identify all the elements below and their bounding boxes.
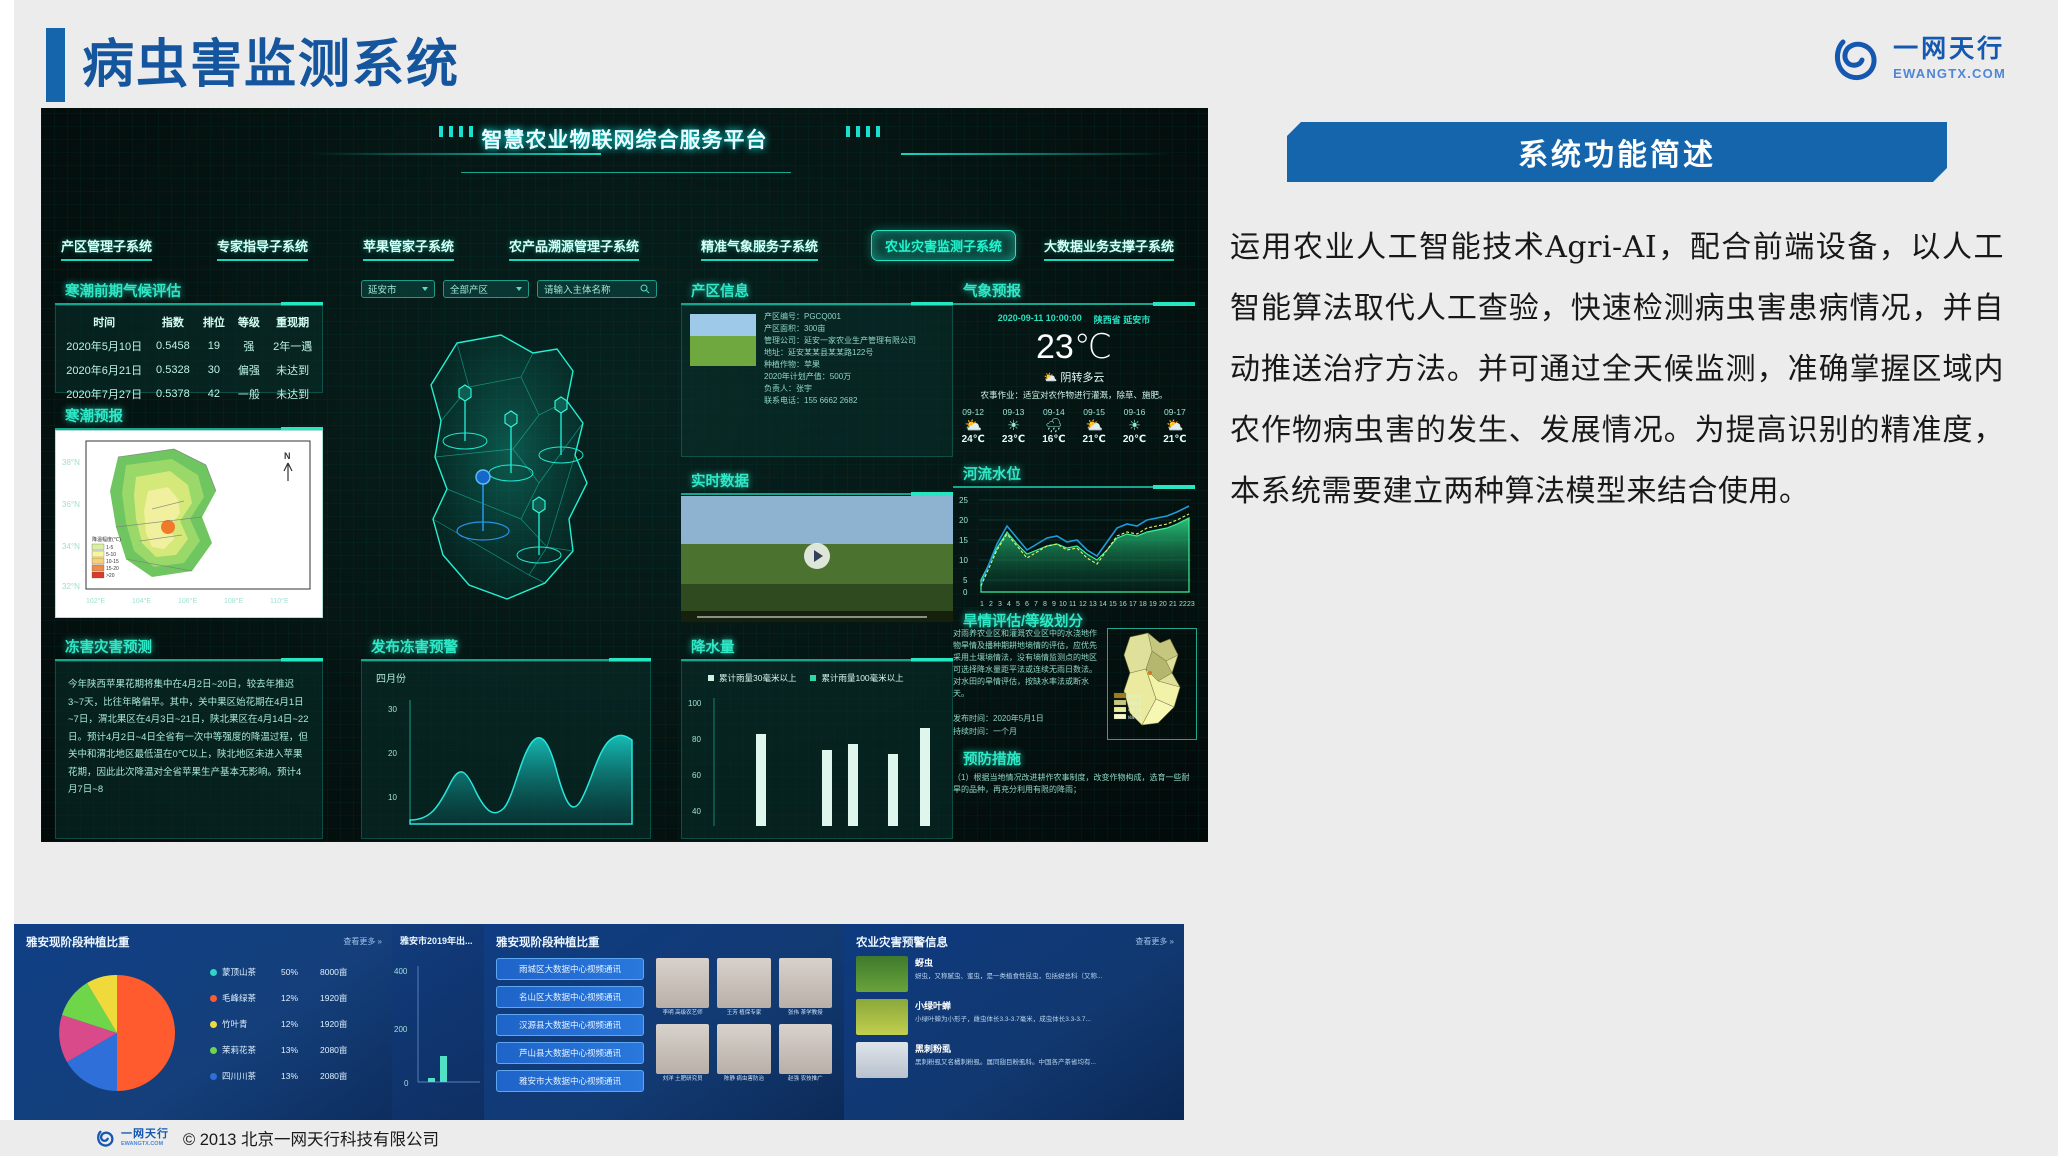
freeze-area-series xyxy=(410,735,632,824)
th-1: 指数 xyxy=(149,310,196,334)
svg-text:23: 23 xyxy=(1187,601,1195,608)
svg-text:0: 0 xyxy=(404,1079,409,1088)
footer-logo-cn: 一网天行 xyxy=(121,1129,169,1140)
panel-heading-precipitation: 降水量 xyxy=(691,636,735,657)
table-row: 2020年5月10日 0.5458 19 强 2年一遇 xyxy=(59,334,319,358)
svg-text:1: 1 xyxy=(980,601,984,608)
panel-heading-cold-assessment: 寒潮前期气候评估 xyxy=(65,280,181,301)
pest-thumb xyxy=(856,999,908,1035)
pest-desc: 黑刺粉虱又名橘刺粉虱。属同翅目粉虱科。中国各产茶省均有... xyxy=(915,1058,1174,1067)
area-field-0: 产区编号：PGCQ001 xyxy=(764,311,948,323)
ewangtx-logo-icon xyxy=(1829,32,1881,84)
forecast-day-0: 09-12 ⛅ 24℃ xyxy=(953,407,993,445)
svg-text:6: 6 xyxy=(1025,601,1029,608)
legend-pct-0: 50% xyxy=(281,967,315,977)
svg-text:中度干旱: 中度干旱 xyxy=(1128,708,1142,713)
freeze-forecast-body: 今年陕西苹果花期将集中在4月2日~20日，较去年推迟3~7天，比往年略偏早。其中… xyxy=(56,662,322,813)
svg-text:1-5: 1-5 xyxy=(106,545,113,551)
thumb-bar-2019[interactable]: 雅安市2019年出... 400 200 0 xyxy=(392,924,484,1120)
svg-text:5: 5 xyxy=(963,576,968,585)
table-row: 2020年6月21日 0.5328 30 偏强 未达到 xyxy=(59,358,319,382)
svg-text:22: 22 xyxy=(1179,601,1187,608)
area-field-7: 联系电话：155 6662 2682 xyxy=(764,395,948,407)
footer-logo-en: EWANGTX.COM xyxy=(121,1142,169,1148)
nav-tab-6[interactable]: 大数据业务支撑子系统 xyxy=(1044,236,1174,261)
cell: 42 xyxy=(196,382,231,406)
panel-heading-realtime: 实时数据 xyxy=(691,470,749,491)
partly-cloudy-icon: ⛅ xyxy=(1074,417,1114,434)
video-channel-2[interactable]: 汉源县大数据中心视频通讯 xyxy=(496,1014,644,1036)
legend-pct-4: 13% xyxy=(281,1071,315,1081)
cell: 2020年5月10日 xyxy=(59,334,149,358)
svg-text:40: 40 xyxy=(692,807,701,816)
expert-name: 张伟 茶学教授 xyxy=(779,1010,832,1017)
legend-pct-2: 12% xyxy=(281,1019,315,1029)
forecast-date: 09-12 xyxy=(953,407,993,417)
svg-text:36°N: 36°N xyxy=(62,500,80,509)
svg-text:20: 20 xyxy=(388,749,397,758)
svg-text:N: N xyxy=(284,451,291,461)
footer-copyright: © 2013 北京一网天行科技有限公司 xyxy=(183,1126,439,1150)
cell: 0.5458 xyxy=(149,334,196,358)
river-chart: 2520 1510 50 123 456 789 101112 131415 1… xyxy=(953,488,1195,610)
legend-swatch-2 xyxy=(210,1021,217,1028)
expert-name: 赵强 农技推广 xyxy=(779,1076,832,1083)
thumb-pest-warning[interactable]: 农业灾害预警信息 查看更多 » 蚜虫 蚜虫，又称腻虫、蜜虫，是一类植食性昆虫，包… xyxy=(844,924,1184,1120)
svg-text:15: 15 xyxy=(1109,601,1117,608)
page-header: 病虫害监测系统 一网天行 EWANGTX.COM xyxy=(14,14,2058,100)
rain-icon: 🌧 xyxy=(1034,417,1074,434)
panel-heading-weather: 气象预报 xyxy=(963,280,1021,301)
cell: 2020年6月21日 xyxy=(59,358,149,382)
table-header-row: 时间 指数 排位 等级 重现期 xyxy=(59,310,319,334)
cold-forecast-map-box: 38°N 36°N 34°N 32°N 102°E 104°E 106°E 10… xyxy=(55,430,323,618)
legend-label-3: 茉莉花茶 xyxy=(222,1044,276,1056)
sunny-icon: ☀ xyxy=(993,417,1033,434)
video-channel-4[interactable]: 雅安市大数据中心视频通讯 xyxy=(496,1070,644,1092)
pest-list: 蚜虫 蚜虫，又称腻虫、蜜虫，是一类植食性昆虫，包括蚜总科（又称... 小绿叶蝉 … xyxy=(856,956,1174,1085)
river-series-area xyxy=(981,518,1189,592)
svg-text:轻度干旱: 轻度干旱 xyxy=(1128,715,1142,720)
nav-tab-1[interactable]: 专家指导子系统 xyxy=(217,236,308,261)
expert-name: 李明 高级农艺师 xyxy=(656,1010,709,1017)
panel-heading-cold-forecast: 寒潮预报 xyxy=(65,405,123,426)
bar-2019-chart: 400 200 0 xyxy=(392,958,484,1108)
area-field-5: 2020年计划产值：500万 xyxy=(764,371,948,383)
forecast-temp: 20℃ xyxy=(1114,434,1154,445)
cell: 未达到 xyxy=(266,382,319,406)
svg-text:9: 9 xyxy=(1052,601,1056,608)
river-chart-box: 2520 1510 50 123 456 789 101112 131415 1… xyxy=(953,488,1195,610)
expert-card[interactable]: 赵强 农技推广 xyxy=(779,1024,832,1083)
panel-heading-area-info: 产区信息 xyxy=(691,280,749,301)
area-photo xyxy=(690,314,756,366)
drought-body: 对雨养农业区和灌溉农业区中的水浇地作物旱情及播种期耕地墒情的评估，应优先采用土壤… xyxy=(953,628,1103,700)
legend-swatch-3 xyxy=(210,1047,217,1054)
drought-publish: 发布时间：2020年5月1日 xyxy=(953,713,1044,725)
expert-card[interactable]: 王芳 植保专家 xyxy=(717,958,770,1017)
search-icon xyxy=(640,284,650,294)
video-channel-1[interactable]: 名山区大数据中心视频通讯 xyxy=(496,986,644,1008)
video-channel-list[interactable]: 雨城区大数据中心视频通讯 名山区大数据中心视频通讯 汉源县大数据中心视频通讯 芦… xyxy=(496,958,644,1098)
forecast-date: 09-14 xyxy=(1034,407,1074,417)
pest-thumb xyxy=(856,1042,908,1078)
legend-label-0: 蒙顶山茶 xyxy=(222,966,276,978)
freeze-warning-box: 四月份 30 20 10 xyxy=(361,661,651,839)
svg-text:15: 15 xyxy=(959,536,968,545)
weather-condition-row: ⛅ 阴转多云 xyxy=(953,369,1195,385)
video-progress[interactable] xyxy=(697,616,927,618)
legend-amt-3: 2080亩 xyxy=(320,1044,347,1056)
forecast-day-1: 09-13 ☀ 23℃ xyxy=(993,407,1033,445)
th-4: 重现期 xyxy=(266,310,319,334)
video-channel-0[interactable]: 雨城区大数据中心视频通讯 xyxy=(496,958,644,980)
nav-tab-2[interactable]: 苹果管家子系统 xyxy=(363,236,454,261)
weather-forecast-row: 09-12 ⛅ 24℃ 09-13 ☀ 23℃ 09-14 🌧 16℃ 09-1… xyxy=(953,407,1195,445)
forecast-temp: 24℃ xyxy=(953,434,993,445)
video-controls[interactable] xyxy=(681,611,953,622)
area-field-6: 负责人：张宇 xyxy=(764,383,948,395)
pest-name: 蚜虫 xyxy=(915,956,1174,969)
legend-amt-4: 2080亩 xyxy=(320,1070,347,1082)
thumb-video-channels[interactable]: 雅安现阶段种植比重 雨城区大数据中心视频通讯 名山区大数据中心视频通讯 汉源县大… xyxy=(484,924,844,1120)
panel-rule-weather xyxy=(953,303,1195,305)
page-title: 病虫害监测系统 xyxy=(82,28,460,102)
panel-heading-prevention: 预防措施 xyxy=(963,748,1021,769)
nav-tab-3[interactable]: 农产品溯源管理子系统 xyxy=(509,236,639,261)
region-map[interactable] xyxy=(361,323,661,643)
legend-amt-2: 1920亩 xyxy=(320,1018,347,1030)
forecast-day-4: 09-16 ☀ 20℃ xyxy=(1114,407,1154,445)
cell: 强 xyxy=(231,334,266,358)
thumb-title: 雅安现阶段种植比重 xyxy=(496,934,600,950)
partly-cloudy-icon: ⛅ xyxy=(953,417,993,434)
svg-text:18: 18 xyxy=(1139,601,1147,608)
forecast-temp: 16℃ xyxy=(1034,434,1074,445)
sunny-icon: ☀ xyxy=(1114,417,1154,434)
svg-text:102°E: 102°E xyxy=(86,597,105,605)
svg-text:4: 4 xyxy=(1007,601,1011,608)
thumb-more-link[interactable]: 查看更多 » xyxy=(343,936,382,947)
area-field-2: 管理公司：延安一家农业生产管理有限公司 xyxy=(764,335,948,347)
left-white-edge xyxy=(0,0,14,1156)
svg-text:14: 14 xyxy=(1099,601,1107,608)
svg-text:38°N: 38°N xyxy=(62,458,80,467)
partly-cloudy-icon: ⛅ xyxy=(1044,372,1058,384)
panel-heading-freeze-warning: 发布冻害预警 xyxy=(371,636,458,657)
drought-duration: 持续时间：一个月 xyxy=(953,726,1017,738)
legend-label-1: 累计雨量100毫米以上 xyxy=(821,672,903,684)
panel-heading-freeze-forecast: 冻害灾害预测 xyxy=(65,636,152,657)
logo-text-cn: 一网天行 xyxy=(1893,37,2006,62)
legend-amt-0: 8000亩 xyxy=(320,966,347,978)
ewangtx-logo-icon xyxy=(95,1128,115,1148)
svg-text:20: 20 xyxy=(1159,601,1167,608)
svg-text:108°E: 108°E xyxy=(224,597,243,605)
legend-label-1: 毛峰绿茶 xyxy=(222,992,276,1004)
table-row: 2020年7月27日 0.5378 42 一般 未达到 xyxy=(59,382,319,406)
expert-card[interactable]: 陈静 病虫害防治 xyxy=(717,1024,770,1083)
list-item[interactable]: 蚜虫 蚜虫，又称腻虫、蜜虫，是一类植食性昆虫，包括蚜总科（又称... xyxy=(856,956,1174,992)
cell: 30 xyxy=(196,358,231,382)
cell: 2年一遇 xyxy=(266,334,319,358)
legend-label-2: 竹叶青 xyxy=(222,1018,276,1030)
svg-text:25: 25 xyxy=(959,496,968,505)
play-icon[interactable] xyxy=(804,543,830,569)
expert-card[interactable]: 李明 高级农艺师 xyxy=(656,958,709,1017)
legend-swatch-0 xyxy=(708,675,714,681)
expert-grid: 李明 高级农艺师 王芳 植保专家 张伟 茶学教授 刘洋 土肥研究员 陈静 病虫害… xyxy=(656,958,832,1083)
svg-text:8: 8 xyxy=(1043,601,1047,608)
area-field-1: 产区面积：300亩 xyxy=(764,323,948,335)
legend-label-4: 四川川茶 xyxy=(222,1070,276,1082)
precipitation-legend: 累计雨量30毫米以上 累计雨量100毫米以上 xyxy=(708,672,904,684)
freeze-forecast-box: 今年陕西苹果花期将集中在4月2日~20日，较去年推迟3~7天，比往年略偏早。其中… xyxy=(55,661,323,839)
forecast-temp: 21℃ xyxy=(1155,434,1195,445)
expert-card[interactable]: 张伟 茶学教授 xyxy=(779,958,832,1017)
svg-text:32°N: 32°N xyxy=(62,582,80,591)
weather-condition: 阴转多云 xyxy=(1060,372,1104,384)
logo-text-en: EWANGTX.COM xyxy=(1893,67,2006,80)
legend-swatch-1 xyxy=(810,675,816,681)
legend-amt-1: 1920亩 xyxy=(320,992,347,1004)
thumb-tea-pie[interactable]: 雅安现阶段种植比重 查看更多 » 蒙顶山茶 50% 8000亩 毛峰绿茶 xyxy=(14,924,392,1120)
weather-temp: 23℃ xyxy=(953,326,1195,369)
video-channel-3[interactable]: 芦山县大数据中心视频通讯 xyxy=(496,1042,644,1064)
svg-text:110°E: 110°E xyxy=(270,597,289,605)
svg-text:11: 11 xyxy=(1069,601,1076,608)
svg-text:30: 30 xyxy=(388,705,397,714)
legend-pct-3: 13% xyxy=(281,1045,315,1055)
svg-text:60: 60 xyxy=(692,771,701,780)
thumbnail-strip: 雅安现阶段种植比重 查看更多 » 蒙顶山茶 50% 8000亩 毛峰绿茶 xyxy=(14,924,1184,1120)
th-2: 排位 xyxy=(196,310,231,334)
subject-search-input[interactable]: 请输入主体名称 xyxy=(537,280,657,298)
expert-name: 王芳 植保专家 xyxy=(717,1010,770,1017)
svg-text:严重干旱: 严重干旱 xyxy=(1128,701,1142,706)
svg-text:特大干旱: 特大干旱 xyxy=(1128,694,1142,699)
city-select[interactable]: 延安市 xyxy=(361,280,435,298)
svg-text:7: 7 xyxy=(1034,601,1038,608)
svg-text:15-20: 15-20 xyxy=(106,566,119,572)
dashboard-screenshot: 智慧农业物联网综合服务平台 产区管理子系统 专家指导子系统 苹果管家子系统 农产… xyxy=(41,108,1208,842)
svg-text:0: 0 xyxy=(963,588,968,597)
brand-logo: 一网天行 EWANGTX.COM xyxy=(1829,32,2006,84)
svg-text:3: 3 xyxy=(998,601,1002,608)
th-0: 时间 xyxy=(59,310,149,334)
page-footer: 一网天行 EWANGTX.COM © 2013 北京一网天行科技有限公司 xyxy=(0,1120,2058,1156)
subject-search-placeholder: 请输入主体名称 xyxy=(544,282,636,296)
forecast-day-5: 09-17 ⛅ 21℃ xyxy=(1155,407,1195,445)
svg-text:106°E: 106°E xyxy=(178,597,197,605)
svg-text:100: 100 xyxy=(688,699,702,708)
realtime-video[interactable] xyxy=(681,496,953,622)
forecast-date: 09-13 xyxy=(993,407,1033,417)
forecast-day-3: 09-15 ⛅ 21℃ xyxy=(1074,407,1114,445)
area-field-3: 地址：延安某某县某某路122号 xyxy=(764,347,948,359)
cell: 一般 xyxy=(231,382,266,406)
weather-advice: 农事作业：适宜对农作物进行灌溉，除草、施肥。 xyxy=(953,389,1195,401)
freeze-warning-chart: 30 20 10 xyxy=(362,692,650,837)
pest-thumb xyxy=(856,956,908,992)
legend-swatch-0 xyxy=(210,969,217,976)
area-select[interactable]: 全部产区 xyxy=(443,280,529,298)
tea-pie-chart xyxy=(42,958,192,1108)
pest-desc: 小绿叶蝉为小形子，雌虫体长3.3-3.7毫米，成虫体长3.3-3.7... xyxy=(915,1015,1174,1024)
sidebar-banner: 系统功能简述 xyxy=(1287,122,1947,182)
svg-text:5-10: 5-10 xyxy=(106,552,116,558)
weather-datetime: 2020-09-11 10:00:00 xyxy=(998,313,1082,326)
area-info-box: 产区编号：PGCQ001 产区面积：300亩 管理公司：延安一家农业生产管理有限… xyxy=(681,305,953,457)
pest-name: 小绿叶蝉 xyxy=(915,999,1174,1012)
svg-text:10: 10 xyxy=(1059,601,1067,608)
chevron-down-icon xyxy=(422,287,428,291)
svg-text:80: 80 xyxy=(692,735,701,744)
precipitation-box: 累计雨量30毫米以上 累计雨量100毫米以上 100 80 60 40 xyxy=(681,661,953,839)
svg-text:10: 10 xyxy=(959,556,968,565)
svg-text:104°E: 104°E xyxy=(132,597,151,605)
sidebar: 系统功能简述 运用农业人工智能技术Agri-AI，配合前端设备，以人工智能算法取… xyxy=(1222,108,2012,858)
svg-text:降温幅度(℃): 降温幅度(℃) xyxy=(92,536,121,543)
cell: 偏强 xyxy=(231,358,266,382)
svg-text:10-15: 10-15 xyxy=(106,559,119,565)
map-outline xyxy=(431,335,587,599)
svg-text:10: 10 xyxy=(388,793,397,802)
city-select-value: 延安市 xyxy=(368,282,418,296)
svg-text:13: 13 xyxy=(1089,601,1097,608)
weather-location: 陕西省 延安市 xyxy=(1094,313,1151,326)
cell: 0.5328 xyxy=(149,358,196,382)
forecast-date: 09-15 xyxy=(1074,407,1114,417)
forecast-day-2: 09-14 🌧 16℃ xyxy=(1034,407,1074,445)
list-item[interactable]: 小绿叶蝉 小绿叶蝉为小形子，雌虫体长3.3-3.7毫米，成虫体长3.3-3.7.… xyxy=(856,999,1174,1035)
svg-text:20: 20 xyxy=(959,516,968,525)
sidebar-description: 运用农业人工智能技术Agri-AI，配合前端设备，以人工智能算法取代人工查验，快… xyxy=(1230,218,2004,522)
forecast-temp: 23℃ xyxy=(993,434,1033,445)
area-field-4: 种植作物：苹果 xyxy=(764,359,948,371)
pest-desc: 蚜虫，又称腻虫、蜜虫，是一类植食性昆虫，包括蚜总科（又称... xyxy=(915,972,1174,981)
tea-pie-legend: 蒙顶山茶 50% 8000亩 毛峰绿茶 12% 1920亩 竹叶青 12% 19… xyxy=(210,966,386,1082)
forecast-date: 09-16 xyxy=(1114,407,1154,417)
expert-card[interactable]: 刘洋 土肥研究员 xyxy=(656,1024,709,1083)
thumb-title: 雅安现阶段种植比重 xyxy=(26,934,130,950)
thumb-title: 农业灾害预警信息 xyxy=(856,934,948,950)
panel-heading-river: 河流水位 xyxy=(963,463,1021,484)
chevron-down-icon xyxy=(516,287,522,291)
legend-pct-1: 12% xyxy=(281,993,315,1003)
title-underline xyxy=(461,172,791,173)
thumb-title: 雅安市2019年出... xyxy=(400,934,473,947)
nav-tab-5[interactable]: 农业灾害监测子系统 xyxy=(871,230,1016,261)
expert-name: 刘洋 土肥研究员 xyxy=(656,1076,709,1083)
nav-tab-4[interactable]: 精准气象服务子系统 xyxy=(701,236,818,261)
footer-logo: 一网天行 EWANGTX.COM xyxy=(95,1128,169,1148)
forecast-temp: 21℃ xyxy=(1074,434,1114,445)
nav-tab-0[interactable]: 产区管理子系统 xyxy=(61,236,152,261)
cell: 未达到 xyxy=(266,358,319,382)
drought-map: 特大干旱 严重干旱 中度干旱 轻度干旱 xyxy=(1107,628,1197,740)
page-root: 病虫害监测系统 一网天行 EWANGTX.COM 智慧农业物联网综合服务平台 产… xyxy=(0,0,2058,1156)
svg-text:2: 2 xyxy=(989,601,993,608)
cold-forecast-map: 38°N 36°N 34°N 32°N 102°E 104°E 106°E 10… xyxy=(56,431,322,617)
cell: 19 xyxy=(196,334,231,358)
legend-swatch-4 xyxy=(210,1073,217,1080)
dashboard-nav[interactable]: 产区管理子系统 专家指导子系统 苹果管家子系统 农产品溯源管理子系统 精准气象服… xyxy=(41,236,1208,266)
svg-text:19: 19 xyxy=(1149,601,1157,608)
svg-text:17: 17 xyxy=(1129,601,1137,608)
thumb-more-link[interactable]: 查看更多 » xyxy=(1135,936,1174,947)
title-accent-bar xyxy=(46,28,65,102)
svg-text:16: 16 xyxy=(1119,601,1127,608)
area-info-fields: 产区编号：PGCQ001 产区面积：300亩 管理公司：延安一家农业生产管理有限… xyxy=(764,311,948,407)
prevention-body: （1）根据当地情况改进耕作农事制度，改变作物构成，选育一些耐旱的品种，再充分利用… xyxy=(953,772,1195,796)
svg-text:400: 400 xyxy=(394,967,408,976)
svg-text:21: 21 xyxy=(1169,601,1177,608)
cell: 2020年7月27日 xyxy=(59,382,149,406)
pest-name: 黑刺粉虱 xyxy=(915,1042,1174,1055)
partly-cloudy-icon: ⛅ xyxy=(1155,417,1195,434)
svg-text:>20: >20 xyxy=(106,573,115,579)
forecast-date: 09-17 xyxy=(1155,407,1195,417)
cell: 0.5378 xyxy=(149,382,196,406)
list-item[interactable]: 黑刺粉虱 黑刺粉虱又名橘刺粉虱。属同翅目粉虱科。中国各产茶省均有... xyxy=(856,1042,1174,1078)
svg-text:200: 200 xyxy=(394,1025,408,1034)
svg-text:34°N: 34°N xyxy=(62,542,80,551)
dashboard-title: 智慧农业物联网综合服务平台 xyxy=(41,124,1208,154)
svg-text:12: 12 xyxy=(1079,601,1087,608)
th-3: 等级 xyxy=(231,310,266,334)
freeze-warning-sub: 四月份 xyxy=(376,672,406,688)
svg-text:5: 5 xyxy=(1016,601,1020,608)
cold-assessment-table: 时间 指数 排位 等级 重现期 2020年5月10日 0.5458 19 强 2… xyxy=(59,310,319,406)
legend-swatch-1 xyxy=(210,995,217,1002)
weather-panel: 2020-09-11 10:00:00 陕西省 延安市 23℃ ⛅ 阴转多云 农… xyxy=(953,308,1195,464)
precipitation-chart: 100 80 60 40 xyxy=(682,692,952,832)
legend-label-0: 累计雨量30毫米以上 xyxy=(719,672,796,684)
panel-rule-realtime xyxy=(681,493,953,495)
expert-name: 陈静 病虫害防治 xyxy=(717,1076,770,1083)
area-select-value: 全部产区 xyxy=(450,282,512,296)
